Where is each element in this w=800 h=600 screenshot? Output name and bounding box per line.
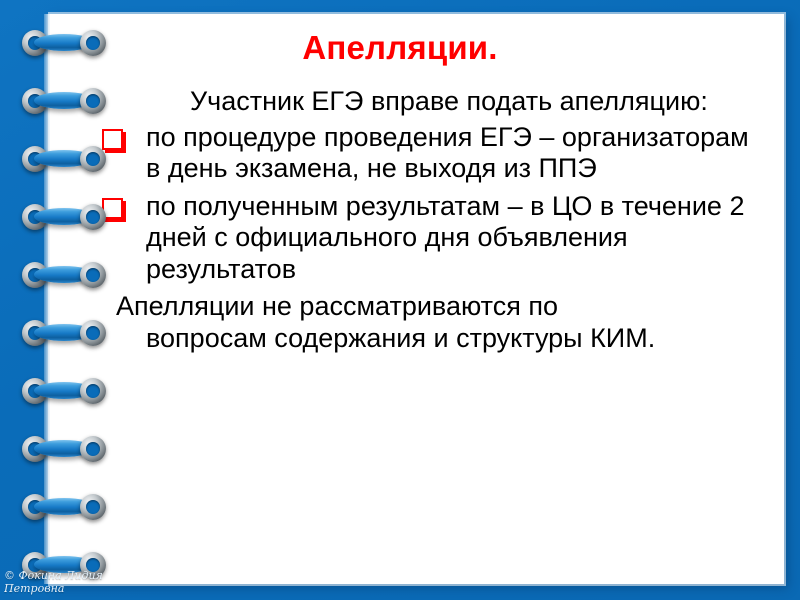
spiral-ring-icon bbox=[22, 146, 106, 172]
spiral-ring-icon bbox=[22, 378, 106, 404]
intro-paragraph: Участник ЕГЭ вправе подать апелляцию: bbox=[98, 86, 750, 118]
list-item: по полученным результатам – в ЦО в течен… bbox=[98, 191, 750, 286]
bullet-list: по процедуре проведения ЕГЭ – организато… bbox=[98, 122, 750, 286]
ring-hook-right-icon bbox=[80, 88, 106, 114]
spiral-ring-icon bbox=[22, 494, 106, 520]
ring-hook-right-icon bbox=[80, 146, 106, 172]
closing-line-1: Апелляции не рассматриваются по bbox=[116, 291, 558, 321]
spiral-ring-icon bbox=[22, 262, 106, 288]
slide-content: Апелляции. Участник ЕГЭ вправе подать ап… bbox=[50, 14, 784, 584]
spiral-ring-icon bbox=[22, 88, 106, 114]
watermark-line-2: Петровна bbox=[4, 583, 124, 596]
list-item-text: по полученным результатам – в ЦО в течен… bbox=[146, 191, 744, 284]
slide-body: Участник ЕГЭ вправе подать апелляцию: по… bbox=[98, 86, 750, 355]
watermark-line-1: © Фокина Лидия bbox=[4, 570, 124, 583]
ring-hook-right-icon bbox=[80, 378, 106, 404]
slide-canvas: Апелляции. Участник ЕГЭ вправе подать ап… bbox=[0, 0, 800, 600]
list-item: по процедуре проведения ЕГЭ – организато… bbox=[98, 122, 750, 185]
spiral-ring-icon bbox=[22, 204, 106, 230]
ring-hook-right-icon bbox=[80, 204, 106, 230]
spiral-ring-icon bbox=[22, 30, 106, 56]
closing-paragraph: Апелляции не рассматриваются по вопросам… bbox=[98, 291, 750, 354]
ring-hook-right-icon bbox=[80, 262, 106, 288]
ring-hook-right-icon bbox=[80, 30, 106, 56]
spiral-ring-icon bbox=[22, 436, 106, 462]
spiral-ring-icon bbox=[22, 320, 106, 346]
list-item-text: по процедуре проведения ЕГЭ – организато… bbox=[146, 122, 749, 184]
ring-hook-right-icon bbox=[80, 320, 106, 346]
ring-hook-right-icon bbox=[80, 436, 106, 462]
page-title: Апелляции. bbox=[50, 30, 750, 66]
closing-line-2: вопросам содержания и структуры КИМ. bbox=[116, 323, 750, 355]
author-watermark: © Фокина Лидия Петровна bbox=[4, 570, 124, 600]
ring-hook-right-icon bbox=[80, 494, 106, 520]
